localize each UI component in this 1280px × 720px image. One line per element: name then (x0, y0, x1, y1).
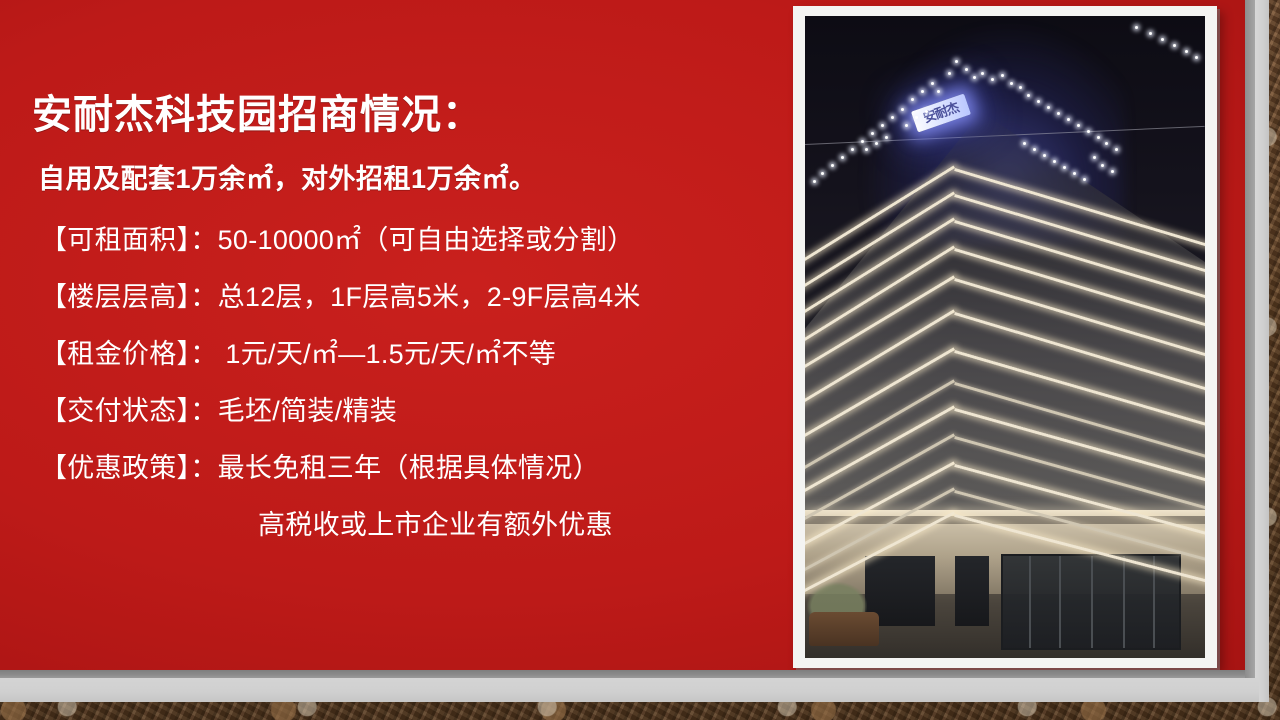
list-item: 【优惠政策】：最长免租三年（根据具体情况） (40, 440, 785, 497)
mullion (1123, 556, 1125, 648)
slide-text-column: 安耐杰科技园招商情况： 自用及配套1万余㎡，对外招租1万余㎡。 【可租面积】：5… (0, 0, 795, 670)
planter (809, 612, 879, 646)
list-item: 【楼层层高】：总12层，1F层高5米，2-9F层高4米 (40, 269, 785, 326)
presentation-slide: 安耐杰科技园招商情况： 自用及配套1万余㎡，对外招租1万余㎡。 【可租面积】：5… (0, 0, 1245, 670)
slide-subtitle: 自用及配套1万余㎡，对外招租1万余㎡。 (38, 157, 537, 196)
slide-edge-shadow-right (1245, 0, 1255, 678)
list-item: 【可租面积】：50-10000㎡（可自由选择或分割） (40, 212, 785, 269)
slide-edge-shadow-bottom (0, 670, 1245, 678)
building-night-photo: 安耐杰 (805, 16, 1205, 658)
photo-container: 安耐杰 (805, 16, 1205, 658)
slide-mat-right (1255, 0, 1269, 702)
list-item: 【交付状态】：毛坯/简装/精装 (40, 383, 785, 440)
mullion (1091, 556, 1093, 648)
mullion (1029, 556, 1031, 648)
mullion (1153, 556, 1155, 648)
list-item: 【租金价格】： 1元/天/㎡—1.5元/天/㎡不等 (40, 326, 785, 383)
list-item-continuation: 高税收或上市企业有额外优惠 (40, 497, 785, 554)
lobby-opening (955, 556, 989, 626)
page-title: 安耐杰科技园招商情况： (32, 82, 483, 140)
mullion (1059, 556, 1061, 648)
slide-mat-bottom (0, 678, 1259, 702)
bullet-list: 【可租面积】：50-10000㎡（可自由选择或分割） 【楼层层高】：总12层，1… (40, 212, 785, 554)
slide-stage: 安耐杰科技园招商情况： 自用及配套1万余㎡，对外招租1万余㎡。 【可租面积】：5… (0, 0, 1280, 720)
